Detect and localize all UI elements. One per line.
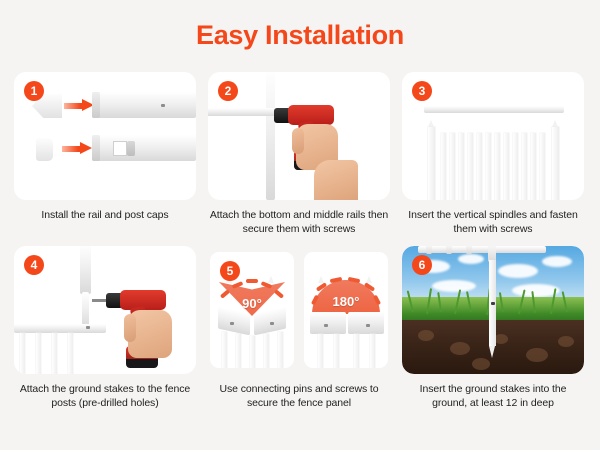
step-caption-3: Insert the vertical spindles and fasten … (402, 208, 584, 236)
step-card-2: 2 (208, 72, 390, 200)
angle-label-180: 180° (304, 294, 388, 309)
step-panel-3: 3 Insert the vertical sp (402, 72, 584, 236)
step-badge-1: 1 (24, 81, 44, 101)
step-card-4: 4 (14, 246, 196, 374)
steps-grid: 1 Install the rail and post caps (14, 72, 586, 410)
insert-arrow-icon-2 (62, 142, 92, 155)
step-panel-6: 6 Insert the ground stakes into the grou… (402, 246, 584, 410)
step-caption-2: Attach the bottom and middle rails then … (208, 208, 390, 236)
step-caption-1: Install the rail and post caps (14, 208, 196, 222)
step-caption-6: Insert the ground stakes into the ground… (402, 382, 584, 410)
angle-sub-card-180: 180° (304, 252, 388, 368)
step-caption-4: Attach the ground stakes to the fence po… (14, 382, 196, 410)
page-title: Easy Installation (0, 0, 600, 49)
step-card-5: 5 90° (208, 246, 390, 374)
step-panel-4: 4 A (14, 246, 196, 410)
step-badge-4: 4 (24, 255, 44, 275)
step-caption-5: Use connecting pins and screws to secure… (208, 382, 390, 410)
step-panel-2: 2 Attach the bottom and middle rails the… (208, 72, 390, 236)
angle-sub-card-90: 5 90° (210, 252, 294, 368)
step-card-6: 6 (402, 246, 584, 374)
step-badge-2: 2 (218, 81, 238, 101)
step-panel-1: 1 Install the rail and post caps (14, 72, 196, 236)
step-badge-5: 5 (220, 261, 240, 281)
insert-arrow-icon (64, 99, 94, 112)
step-card-3: 3 (402, 72, 584, 200)
step-card-1: 1 (14, 72, 196, 200)
step-badge-6: 6 (412, 255, 432, 275)
step-panel-5: 5 90° (208, 246, 390, 410)
step-badge-3: 3 (412, 81, 432, 101)
